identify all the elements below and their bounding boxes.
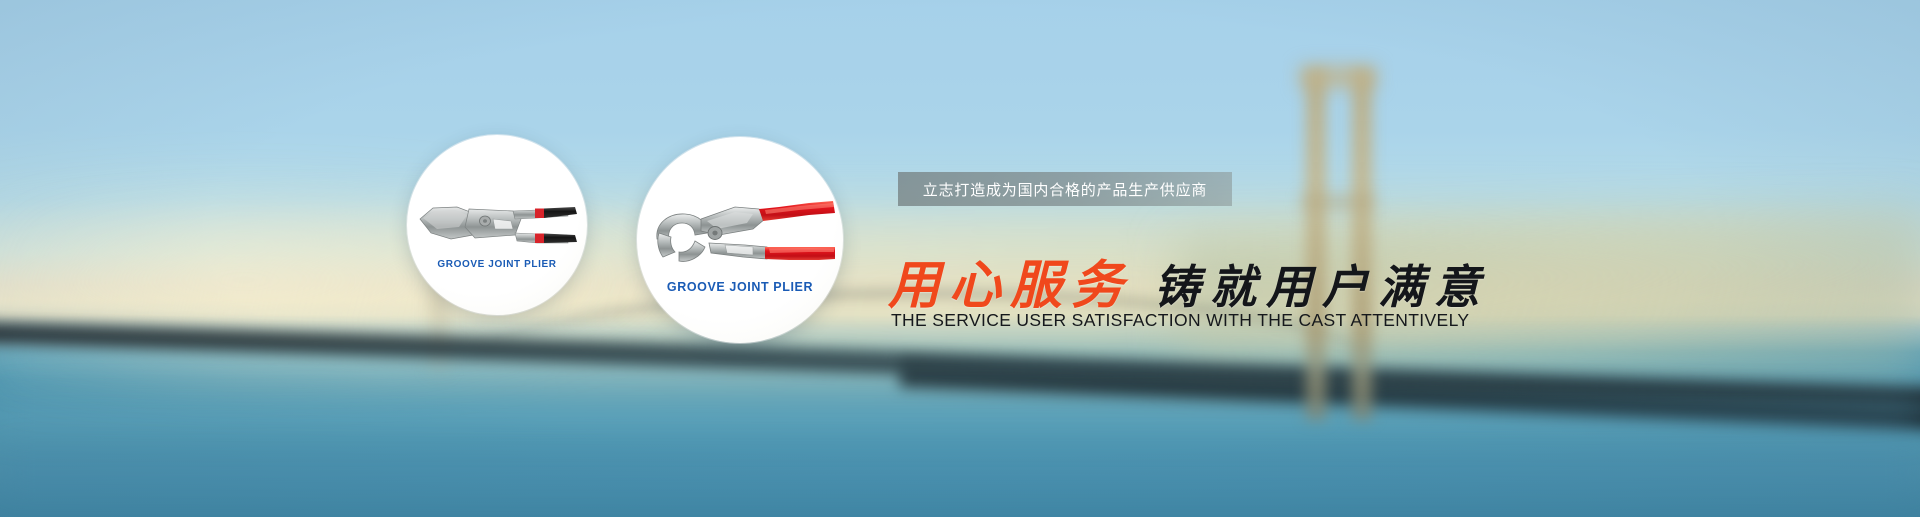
slogan-strap: 立志打造成为国内合格的产品生产供应商 — [898, 172, 1232, 206]
slogan-strap-text: 立志打造成为国内合格的产品生产供应商 — [923, 179, 1207, 200]
headline: 用心服务 铸就用户满意 — [888, 243, 1490, 318]
product-label-2: GROOVE JOINT PLIER — [637, 280, 843, 294]
product-circle-1[interactable]: GROOVE JOINT PLIER — [407, 135, 587, 315]
headline-subtitle: THE SERVICE USER SATISFACTION WITH THE C… — [891, 310, 1469, 331]
headline-primary: 用心服务 — [888, 243, 1132, 318]
groove-joint-plier-red-icon — [649, 183, 835, 293]
product-circle-2[interactable]: GROOVE JOINT PLIER — [637, 137, 843, 343]
headline-secondary: 铸就用户满意 — [1154, 251, 1490, 317]
promo-banner: GROOVE JOINT PLIER — [0, 0, 1920, 517]
product-label-1: GROOVE JOINT PLIER — [407, 259, 587, 270]
